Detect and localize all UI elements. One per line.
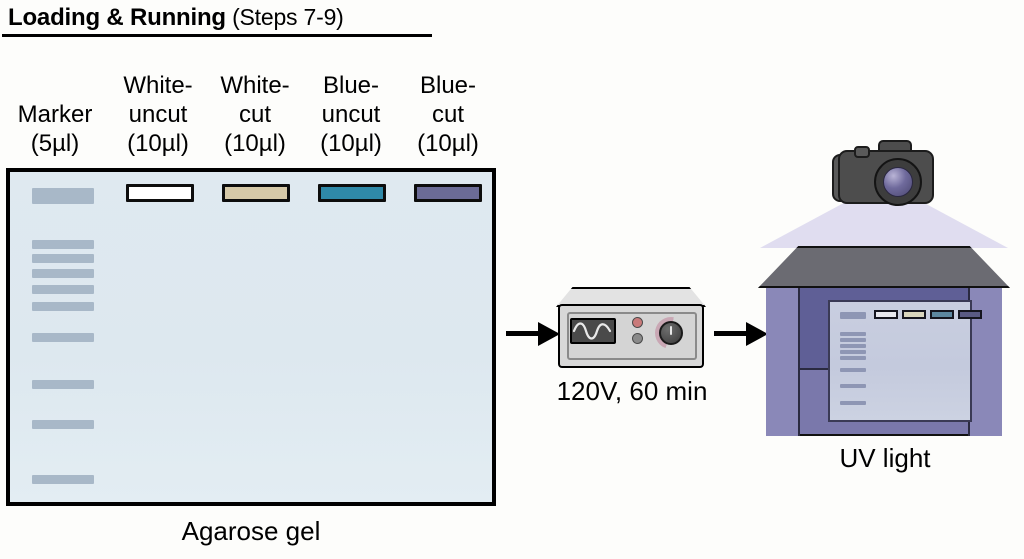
uv-well-white-cut bbox=[902, 310, 926, 319]
marker-band bbox=[32, 240, 94, 249]
arrow-shaft bbox=[506, 331, 538, 336]
uv-box-left-wall bbox=[766, 284, 800, 436]
lane-header-row: Marker (5µl) White- uncut (10µl) White- … bbox=[0, 56, 500, 156]
page-title: Loading & Running (Steps 7-9) bbox=[8, 4, 344, 32]
waveform-display bbox=[570, 318, 616, 344]
uv-marker-band bbox=[840, 368, 866, 372]
arrow-gel-to-psu bbox=[506, 322, 560, 346]
well-white-uncut bbox=[126, 184, 194, 202]
agarose-gel bbox=[6, 168, 496, 506]
camera bbox=[830, 136, 940, 208]
marker-band bbox=[32, 302, 94, 311]
lane-header-marker: Marker (5µl) bbox=[4, 100, 106, 158]
well-blue-uncut bbox=[318, 184, 386, 202]
uv-box-top-panel bbox=[758, 246, 1010, 288]
uv-marker-band bbox=[840, 312, 866, 319]
lane-header-blue-uncut: Blue- uncut (10µl) bbox=[302, 71, 400, 158]
uv-marker-band bbox=[840, 350, 866, 354]
lane-header-white-cut: White- cut (10µl) bbox=[206, 71, 304, 158]
uv-box-right-wall bbox=[968, 284, 1002, 436]
marker-band bbox=[32, 188, 94, 204]
marker-band bbox=[32, 254, 94, 263]
page-title-strong: Loading & Running bbox=[8, 4, 226, 31]
status-led-gray bbox=[632, 333, 643, 344]
power-led-red bbox=[632, 317, 643, 328]
camera-lens-glass bbox=[883, 167, 913, 197]
marker-band bbox=[32, 475, 94, 484]
uv-well-white-uncut bbox=[874, 310, 898, 319]
well-white-cut bbox=[222, 184, 290, 202]
uv-marker-band bbox=[840, 344, 866, 348]
lane-header-blue-cut: Blue- cut (10µl) bbox=[400, 71, 496, 158]
power-supply bbox=[556, 287, 706, 369]
knob-pointer bbox=[670, 326, 672, 335]
well-blue-cut bbox=[414, 184, 482, 202]
uv-well-blue-uncut bbox=[930, 310, 954, 319]
uv-marker-band bbox=[840, 332, 866, 336]
camera-mode-dial bbox=[854, 146, 870, 158]
uv-marker-band bbox=[840, 384, 866, 388]
agarose-gel-label: Agarose gel bbox=[6, 516, 496, 547]
marker-band bbox=[32, 333, 94, 342]
uv-marker-band bbox=[840, 356, 866, 360]
uv-light-label: UV light bbox=[760, 443, 1010, 474]
marker-band bbox=[32, 420, 94, 429]
uv-marker-band bbox=[840, 401, 866, 405]
voltage-knob[interactable] bbox=[659, 321, 683, 345]
uv-box-gel bbox=[828, 300, 972, 422]
marker-band bbox=[32, 285, 94, 294]
uv-well-blue-cut bbox=[958, 310, 982, 319]
uv-marker-band bbox=[840, 338, 866, 342]
lane-header-white-uncut: White- uncut (10µl) bbox=[108, 71, 208, 158]
page-title-steps: (Steps 7-9) bbox=[226, 4, 344, 30]
marker-band bbox=[32, 380, 94, 389]
title-underline bbox=[2, 34, 432, 37]
marker-band bbox=[32, 269, 94, 278]
power-supply-label: 120V, 60 min bbox=[532, 376, 732, 407]
arrow-shaft bbox=[714, 331, 746, 336]
diagram-canvas: Loading & Running (Steps 7-9) Marker (5µ… bbox=[0, 0, 1024, 559]
